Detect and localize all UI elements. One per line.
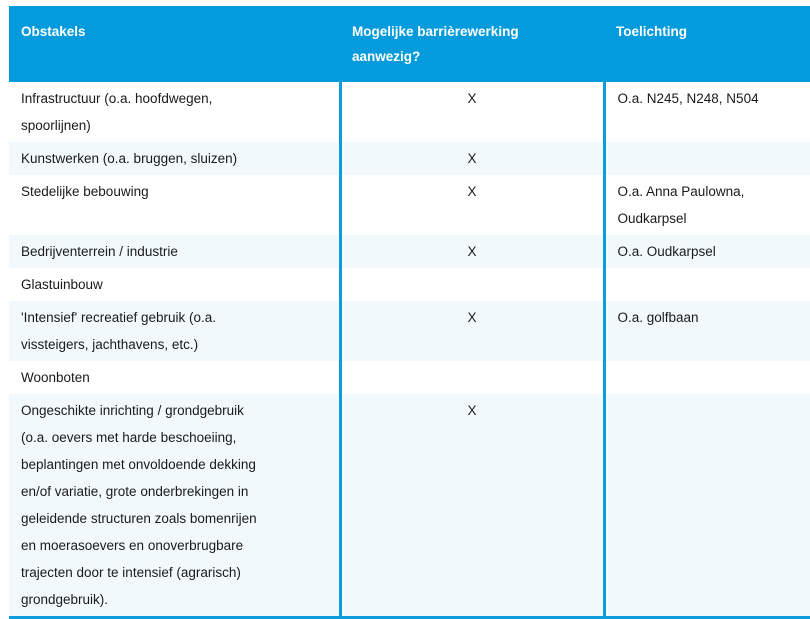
- cell-obstakel-line: Woonboten: [21, 364, 329, 391]
- table-row: Bedrijventerrein / industrieXO.a. Oudkar…: [9, 235, 810, 268]
- table-row: Woonboten: [9, 361, 810, 394]
- barrierewerking-empty: [342, 364, 603, 391]
- cell-obstakel: Kunstwerken (o.a. bruggen, sluizen): [9, 142, 340, 175]
- cell-obstakel-line: geleidende structuren zoals bomenrijen: [21, 505, 329, 532]
- cell-barrierewerking: X: [340, 175, 604, 235]
- header-row: Obstakels Mogelijke barrièrewerking aanw…: [9, 6, 810, 82]
- cell-toelichting-line: O.a. N245, N248, N504: [618, 85, 810, 112]
- cell-obstakel-line: 'Intensief' recreatief gebruik (o.a.: [21, 304, 329, 331]
- column-header-toelichting-label: Toelichting: [616, 19, 810, 44]
- cell-toelichting: [604, 394, 810, 618]
- obstakels-table: Obstakels Mogelijke barrièrewerking aanw…: [9, 6, 810, 619]
- cell-barrierewerking: [340, 268, 604, 301]
- table-row: Infrastructuur (o.a. hoofdwegen,spoorlij…: [9, 82, 810, 142]
- barrierewerking-empty: [342, 271, 603, 298]
- column-header-obstakels: Obstakels: [9, 6, 340, 82]
- table-header: Obstakels Mogelijke barrièrewerking aanw…: [9, 6, 810, 82]
- cell-obstakel-line: Infrastructuur (o.a. hoofdwegen,: [21, 85, 329, 112]
- cell-obstakel-line: Glastuinbouw: [21, 271, 329, 298]
- cell-obstakel-line: grondgebruik).: [21, 586, 329, 613]
- cell-toelichting-line: O.a. Anna Paulowna,: [618, 178, 810, 205]
- cell-obstakel-line: trajecten door te intensief (agrarisch): [21, 559, 329, 586]
- barrierewerking-mark: X: [342, 178, 603, 205]
- cell-obstakel-line: Ongeschikte inrichting / grondgebruik: [21, 397, 329, 424]
- cell-obstakel-line: en moerasoevers en onoverbrugbare: [21, 532, 329, 559]
- cell-toelichting-empty: [618, 397, 810, 424]
- table-row: Ongeschikte inrichting / grondgebruik(o.…: [9, 394, 810, 618]
- cell-barrierewerking: X: [340, 301, 604, 361]
- cell-toelichting: O.a. N245, N248, N504: [604, 82, 810, 142]
- cell-obstakel-line: Stedelijke bebouwing: [21, 178, 329, 205]
- column-header-toelichting: Toelichting: [604, 6, 810, 82]
- table-row: Stedelijke bebouwingXO.a. Anna Paulowna,…: [9, 175, 810, 235]
- cell-barrierewerking: X: [340, 235, 604, 268]
- cell-toelichting: O.a. golfbaan: [604, 301, 810, 361]
- cell-toelichting: O.a. Anna Paulowna,Oudkarpsel: [604, 175, 810, 235]
- cell-obstakel-line: vissteigers, jachthavens, etc.): [21, 331, 329, 358]
- table-row: 'Intensief' recreatief gebruik (o.a.viss…: [9, 301, 810, 361]
- cell-barrierewerking: [340, 361, 604, 394]
- cell-toelichting-empty: [618, 364, 810, 391]
- column-header-barrierewerking-label-line1: Mogelijke barrièrewerking: [352, 19, 594, 44]
- cell-toelichting-line: O.a. Oudkarpsel: [618, 238, 810, 265]
- cell-obstakel: Glastuinbouw: [9, 268, 340, 301]
- cell-barrierewerking: X: [340, 394, 604, 618]
- cell-toelichting: [604, 361, 810, 394]
- column-header-barrierewerking: Mogelijke barrièrewerking aanwezig?: [340, 6, 604, 82]
- barrierewerking-mark: X: [342, 397, 603, 424]
- barrierewerking-mark: X: [342, 238, 603, 265]
- cell-obstakel-line: spoorlijnen): [21, 112, 329, 139]
- cell-obstakel: Bedrijventerrein / industrie: [9, 235, 340, 268]
- cell-toelichting-line: O.a. golfbaan: [618, 304, 810, 331]
- barrierewerking-mark: X: [342, 85, 603, 112]
- cell-obstakel: Stedelijke bebouwing: [9, 175, 340, 235]
- cell-toelichting-empty: [618, 271, 810, 298]
- table-body: Infrastructuur (o.a. hoofdwegen,spoorlij…: [9, 82, 810, 618]
- table-row: Glastuinbouw: [9, 268, 810, 301]
- cell-toelichting-empty: [618, 145, 810, 172]
- cell-obstakel: Ongeschikte inrichting / grondgebruik(o.…: [9, 394, 340, 618]
- cell-toelichting: [604, 142, 810, 175]
- barrierewerking-mark: X: [342, 304, 603, 331]
- cell-toelichting: [604, 268, 810, 301]
- obstakels-table-container: Obstakels Mogelijke barrièrewerking aanw…: [9, 6, 800, 619]
- cell-obstakel-line: beplantingen met onvoldoende dekking: [21, 451, 329, 478]
- column-header-obstakels-label: Obstakels: [21, 19, 330, 44]
- cell-obstakel: Woonboten: [9, 361, 340, 394]
- cell-barrierewerking: X: [340, 142, 604, 175]
- table-row: Kunstwerken (o.a. bruggen, sluizen)X: [9, 142, 810, 175]
- cell-toelichting-line: Oudkarpsel: [618, 205, 810, 232]
- cell-obstakel-line: (o.a. oevers met harde beschoeiing,: [21, 424, 329, 451]
- cell-obstakel: 'Intensief' recreatief gebruik (o.a.viss…: [9, 301, 340, 361]
- barrierewerking-mark: X: [342, 145, 603, 172]
- cell-barrierewerking: X: [340, 82, 604, 142]
- cell-toelichting: O.a. Oudkarpsel: [604, 235, 810, 268]
- column-header-barrierewerking-label-line2: aanwezig?: [352, 44, 594, 69]
- cell-obstakel-line: en/of variatie, grote onderbrekingen in: [21, 478, 329, 505]
- cell-obstakel-line: Kunstwerken (o.a. bruggen, sluizen): [21, 145, 329, 172]
- cell-obstakel: Infrastructuur (o.a. hoofdwegen,spoorlij…: [9, 82, 340, 142]
- cell-obstakel-line: Bedrijventerrein / industrie: [21, 238, 329, 265]
- page-root: Obstakels Mogelijke barrièrewerking aanw…: [0, 0, 810, 571]
